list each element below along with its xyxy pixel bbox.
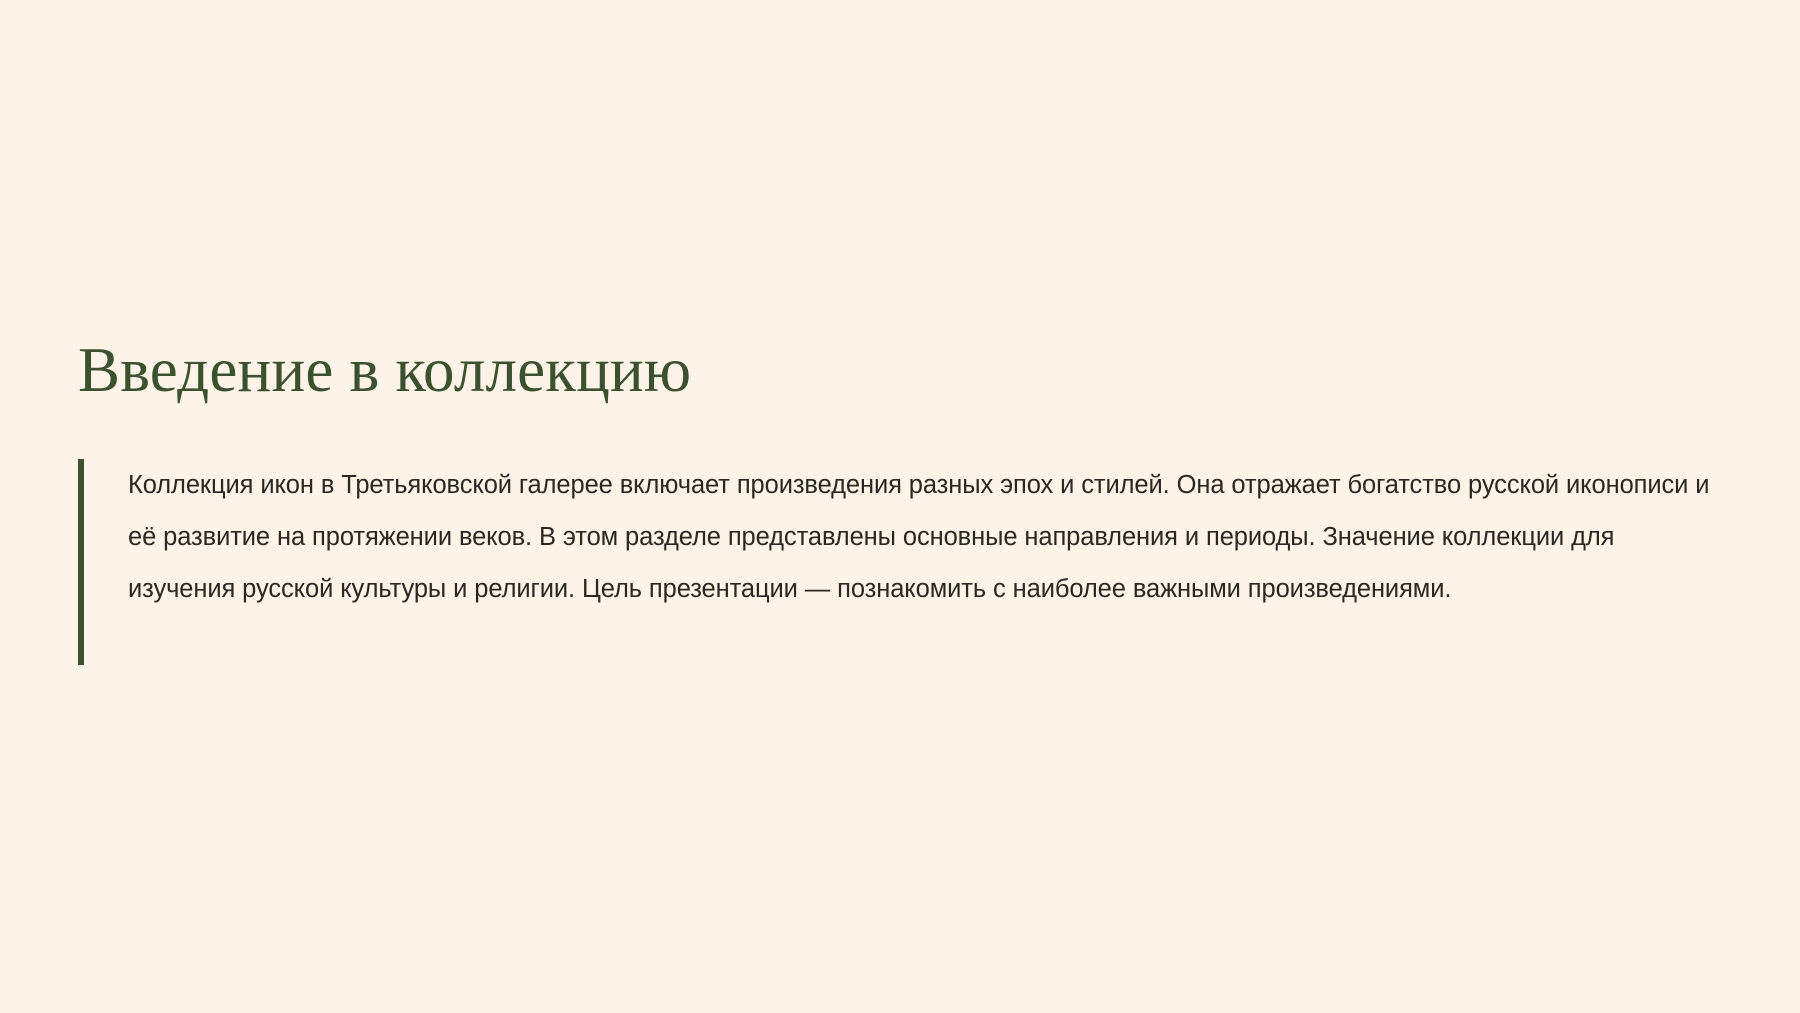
page-title: Введение в коллекцию <box>78 336 1718 404</box>
slide-root: Введение в коллекцию Коллекция икон в Тр… <box>0 0 1800 1013</box>
body-paragraph: Коллекция икон в Третьяковской галерее в… <box>128 459 1718 615</box>
slide-content: Введение в коллекцию Коллекция икон в Тр… <box>78 336 1718 665</box>
body-block: Коллекция икон в Третьяковской галерее в… <box>78 459 1718 665</box>
accent-bar <box>78 459 84 665</box>
